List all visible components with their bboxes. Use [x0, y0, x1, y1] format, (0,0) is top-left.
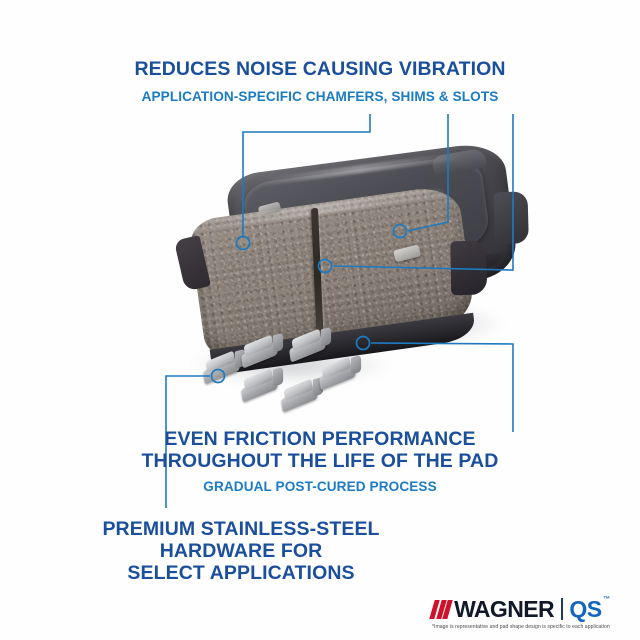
middle-feature-subhead: GRADUAL POST-CURED PROCESS	[0, 479, 640, 494]
wagner-wordmark: WAGNER	[454, 598, 554, 621]
pad-ear-right	[450, 241, 487, 296]
bottom-left-headline-line1: PREMIUM STAINLESS-STEEL	[0, 518, 640, 541]
wagner-hash-marks-icon	[432, 600, 452, 619]
wagner-qs-logo: WAGNER QS™ *Image is representative and …	[432, 596, 622, 636]
middle-feature-headline-line2: THROUGHOUT THE LIFE OF THE PAD	[0, 450, 640, 473]
hardware-clip	[202, 348, 242, 385]
product-photo	[0, 130, 640, 430]
hardware-clip	[240, 366, 280, 403]
qs-wordmark: QS™	[569, 598, 601, 621]
bottom-left-headline-line3: SELECT APPLICATIONS	[0, 562, 640, 585]
hardware-clip	[240, 332, 280, 369]
image-disclaimer: *Image is representative and pad shape d…	[432, 624, 632, 630]
infographic-canvas: REDUCES NOISE CAUSING VIBRATION APPLICAT…	[0, 0, 640, 640]
qs-text: QS	[569, 596, 601, 622]
top-feature-headline: REDUCES NOISE CAUSING VIBRATION	[0, 58, 640, 81]
hardware-clip	[318, 354, 358, 391]
hardware-clip	[280, 376, 320, 413]
middle-feature-headline-line1: EVEN FRICTION PERFORMANCE	[0, 428, 640, 451]
top-feature-subhead: APPLICATION-SPECIFIC CHAMFERS, SHIMS & S…	[0, 89, 640, 104]
hardware-clip-group	[196, 330, 346, 420]
logo-divider	[561, 598, 563, 620]
shim-ear-right	[494, 191, 529, 244]
hardware-clip	[288, 326, 328, 363]
bottom-left-headline-line2: HARDWARE FOR	[0, 540, 640, 563]
trademark-symbol: ™	[603, 596, 610, 603]
